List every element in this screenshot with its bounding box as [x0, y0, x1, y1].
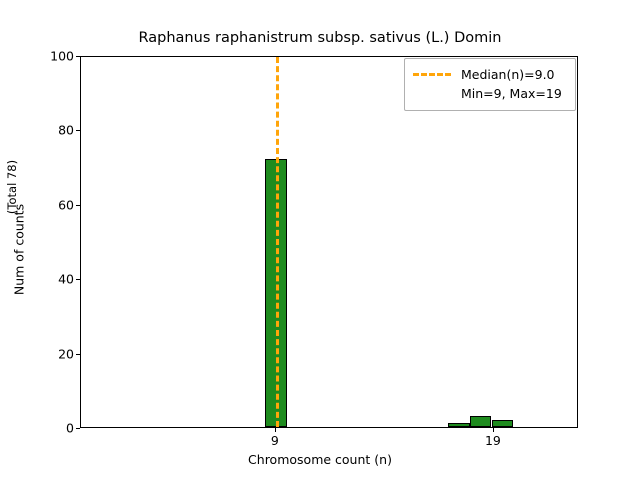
- plot-area: [80, 56, 578, 428]
- legend-entry-minmax: Min=9, Max=19: [413, 84, 567, 103]
- blank-swatch-icon: [413, 92, 451, 95]
- legend-label-minmax: Min=9, Max=19: [461, 86, 562, 101]
- bar-n19[interactable]: [470, 416, 492, 427]
- xtick-label-9: 9: [271, 433, 279, 448]
- bar-n18[interactable]: [448, 423, 470, 427]
- chart-legend: Median(n)=9.0 Min=9, Max=19: [404, 58, 576, 111]
- xtick-mark-9: [275, 428, 276, 432]
- xtick-label-19: 19: [485, 433, 501, 448]
- ytick-mark-0: [76, 428, 80, 429]
- chart-figure: Raphanus raphanistrum subsp. sativus (L.…: [0, 0, 640, 480]
- bar-n20[interactable]: [492, 420, 514, 427]
- y-axis-total-label: (Total 78): [5, 127, 19, 247]
- legend-label-median: Median(n)=9.0: [461, 67, 555, 82]
- ytick-label-0: 0: [0, 421, 74, 436]
- median-line: [276, 57, 279, 427]
- legend-entry-median: Median(n)=9.0: [413, 65, 567, 84]
- dashed-line-icon: [413, 73, 451, 76]
- chart-title: Raphanus raphanistrum subsp. sativus (L.…: [0, 30, 640, 46]
- xtick-mark-19: [493, 428, 494, 432]
- ytick-label-100: 100: [0, 49, 74, 64]
- x-axis-label: Chromosome count (n): [0, 452, 640, 467]
- plot-inner: [81, 57, 577, 427]
